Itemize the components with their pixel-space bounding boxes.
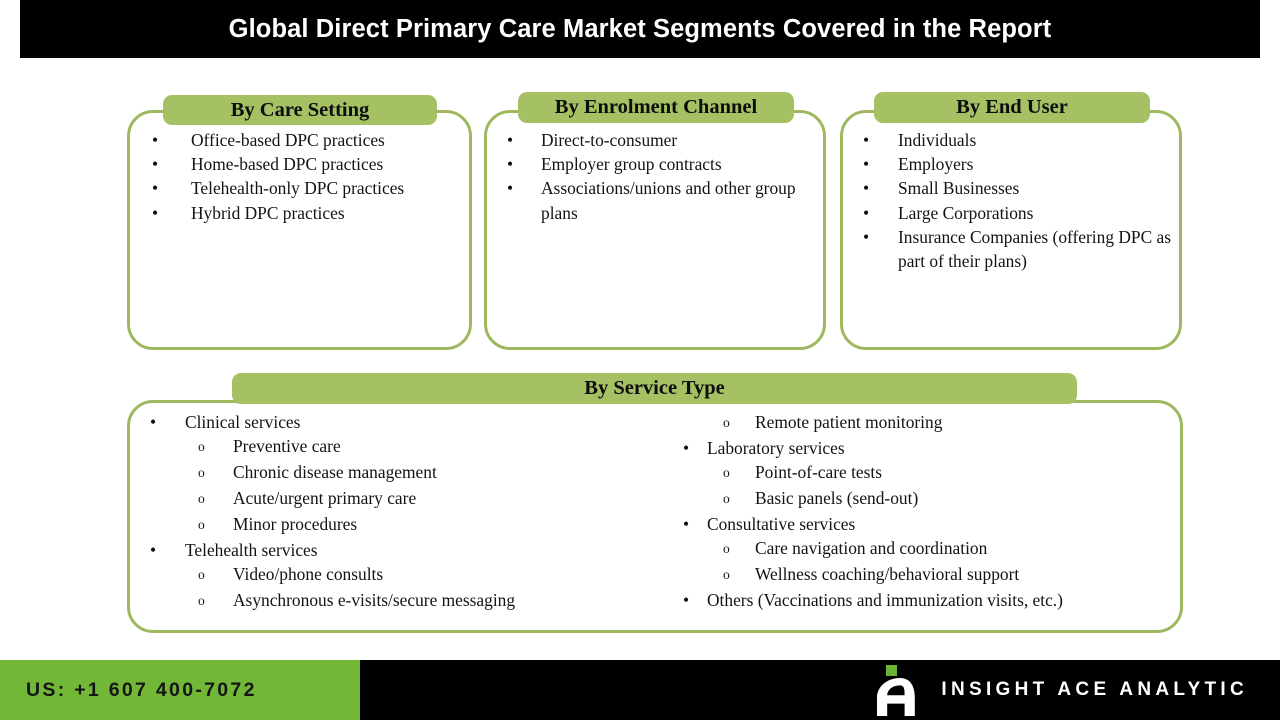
brand-lockup: INSIGHT ACE ANALYTIC bbox=[877, 664, 1248, 716]
list-item: o Acute/urgent primary care bbox=[127, 486, 657, 512]
list-item: • Consultative services bbox=[657, 512, 1183, 536]
bullet-dot-icon: • bbox=[863, 128, 869, 152]
bullet-dot-icon: • bbox=[863, 225, 869, 249]
bullet-circle-icon: o bbox=[198, 460, 205, 486]
list-item: o Preventive care bbox=[127, 434, 657, 460]
list-item: • Office-based DPC practices bbox=[127, 128, 472, 152]
list-item-label: Point-of-care tests bbox=[755, 462, 882, 482]
list-item: • Home-based DPC practices bbox=[127, 152, 472, 176]
list-item: o Chronic disease management bbox=[127, 460, 657, 486]
list-item-label: Remote patient monitoring bbox=[755, 412, 942, 432]
title-bar: Global Direct Primary Care Market Segmen… bbox=[20, 0, 1260, 58]
list-item-label: Insurance Companies (offering DPC as par… bbox=[898, 227, 1171, 271]
enrolment-channel-list: • Direct-to-consumer • Employer group co… bbox=[484, 128, 832, 225]
list-item: • Telehealth-only DPC practices bbox=[127, 176, 472, 200]
list-item-label: Clinical services bbox=[185, 412, 300, 432]
bullet-circle-icon: o bbox=[198, 512, 205, 538]
list-item: • Employers bbox=[840, 152, 1182, 176]
list-item-label: Individuals bbox=[898, 130, 976, 150]
bullet-dot-icon: • bbox=[152, 128, 158, 152]
list-item: o Basic panels (send-out) bbox=[657, 486, 1183, 512]
bullet-circle-icon: o bbox=[198, 562, 205, 588]
bullet-dot-icon: • bbox=[150, 410, 156, 434]
bullet-circle-icon: o bbox=[198, 434, 205, 460]
list-item-label: Preventive care bbox=[233, 436, 341, 456]
bullet-dot-icon: • bbox=[152, 152, 158, 176]
list-item: • Individuals bbox=[840, 128, 1182, 152]
list-item: • Direct-to-consumer bbox=[484, 128, 832, 152]
list-item-label: Asynchronous e-visits/secure messaging bbox=[233, 590, 515, 610]
bullet-dot-icon: • bbox=[152, 201, 158, 225]
bullet-dot-icon: • bbox=[507, 152, 513, 176]
bullet-dot-icon: • bbox=[683, 436, 689, 460]
bullet-dot-icon: • bbox=[683, 512, 689, 536]
bullet-dot-icon: • bbox=[507, 176, 513, 200]
list-item-label: Consultative services bbox=[707, 514, 855, 534]
list-item: • Large Corporations bbox=[840, 201, 1182, 225]
service-type-list-right: o Remote patient monitoring • Laboratory… bbox=[657, 410, 1183, 614]
bullet-circle-icon: o bbox=[723, 536, 730, 562]
segment-card-title: By End User bbox=[956, 97, 1068, 118]
bullet-dot-icon: • bbox=[507, 128, 513, 152]
list-item-label: Care navigation and coordination bbox=[755, 538, 987, 558]
list-item-label: Associations/unions and other group plan… bbox=[541, 178, 796, 222]
list-item: • Associations/unions and other group pl… bbox=[484, 176, 832, 224]
list-item: o Point-of-care tests bbox=[657, 460, 1183, 486]
list-item-label: Hybrid DPC practices bbox=[191, 203, 345, 223]
list-item-label: Basic panels (send-out) bbox=[755, 488, 918, 508]
segment-card-header-end-user: By End User bbox=[874, 92, 1150, 123]
list-item-label: Telehealth services bbox=[185, 540, 318, 560]
list-item-label: Direct-to-consumer bbox=[541, 130, 677, 150]
bullet-circle-icon: o bbox=[723, 460, 730, 486]
bullet-dot-icon: • bbox=[863, 176, 869, 200]
list-item: • Small Businesses bbox=[840, 176, 1182, 200]
footer-contact-bar: US: +1 607 400-7072 bbox=[0, 660, 360, 720]
list-item-label: Laboratory services bbox=[707, 438, 845, 458]
list-item: o Wellness coaching/behavioral support bbox=[657, 562, 1183, 588]
list-item-label: Others (Vaccinations and immunization vi… bbox=[707, 590, 1063, 610]
list-item-label: Employer group contracts bbox=[541, 154, 722, 174]
list-item: • Telehealth services bbox=[127, 538, 657, 562]
care-setting-list: • Office-based DPC practices • Home-base… bbox=[127, 128, 472, 225]
bullet-circle-icon: o bbox=[723, 562, 730, 588]
bullet-dot-icon: • bbox=[152, 176, 158, 200]
bullet-dot-icon: • bbox=[863, 152, 869, 176]
list-item-label: Chronic disease management bbox=[233, 462, 437, 482]
list-item-label: Acute/urgent primary care bbox=[233, 488, 416, 508]
list-item: • Employer group contracts bbox=[484, 152, 832, 176]
list-item: • Others (Vaccinations and immunization … bbox=[657, 588, 1183, 612]
list-item-label: Small Businesses bbox=[898, 178, 1019, 198]
page-title: Global Direct Primary Care Market Segmen… bbox=[229, 15, 1052, 44]
bullet-circle-icon: o bbox=[723, 410, 730, 436]
segment-card-title: By Care Setting bbox=[231, 100, 370, 121]
brand-name: INSIGHT ACE ANALYTIC bbox=[941, 679, 1248, 701]
footer-phone-number[interactable]: US: +1 607 400-7072 bbox=[26, 679, 257, 702]
list-item: • Clinical services bbox=[127, 410, 657, 434]
list-item: o Asynchronous e-visits/secure messaging bbox=[127, 588, 657, 614]
bullet-dot-icon: • bbox=[863, 201, 869, 225]
bullet-dot-icon: • bbox=[683, 588, 689, 612]
list-item-label: Office-based DPC practices bbox=[191, 130, 385, 150]
segment-card-header-enrolment-channel: By Enrolment Channel bbox=[518, 92, 794, 123]
service-type-columns: • Clinical services o Preventive care o … bbox=[127, 410, 1183, 614]
list-item-label: Employers bbox=[898, 154, 973, 174]
list-item: o Minor procedures bbox=[127, 512, 657, 538]
list-item-label: Video/phone consults bbox=[233, 564, 383, 584]
insight-ace-logo-icon bbox=[877, 664, 923, 716]
list-item: • Hybrid DPC practices bbox=[127, 201, 472, 225]
list-item: • Insurance Companies (offering DPC as p… bbox=[840, 225, 1182, 273]
list-item-label: Wellness coaching/behavioral support bbox=[755, 564, 1019, 584]
list-item: o Care navigation and coordination bbox=[657, 536, 1183, 562]
service-type-list-left: • Clinical services o Preventive care o … bbox=[127, 410, 657, 614]
segment-card-title: By Service Type bbox=[584, 378, 724, 399]
footer-brand-bar: INSIGHT ACE ANALYTIC bbox=[360, 660, 1280, 720]
list-item: o Video/phone consults bbox=[127, 562, 657, 588]
logo-letter-a-icon bbox=[877, 678, 923, 716]
segment-card-header-service-type: By Service Type bbox=[232, 373, 1077, 404]
segment-card-title: By Enrolment Channel bbox=[555, 97, 757, 118]
list-item-label: Large Corporations bbox=[898, 203, 1033, 223]
bullet-circle-icon: o bbox=[723, 486, 730, 512]
bullet-circle-icon: o bbox=[198, 588, 205, 614]
bullet-dot-icon: • bbox=[150, 538, 156, 562]
list-item-label: Minor procedures bbox=[233, 514, 357, 534]
list-item: o Remote patient monitoring bbox=[657, 410, 1183, 436]
bullet-circle-icon: o bbox=[198, 486, 205, 512]
logo-square-dot-icon bbox=[886, 665, 897, 676]
list-item: • Laboratory services bbox=[657, 436, 1183, 460]
end-user-list: • Individuals • Employers • Small Busine… bbox=[840, 128, 1182, 273]
list-item-label: Telehealth-only DPC practices bbox=[191, 178, 404, 198]
list-item-label: Home-based DPC practices bbox=[191, 154, 383, 174]
segment-card-header-care-setting: By Care Setting bbox=[163, 95, 437, 125]
